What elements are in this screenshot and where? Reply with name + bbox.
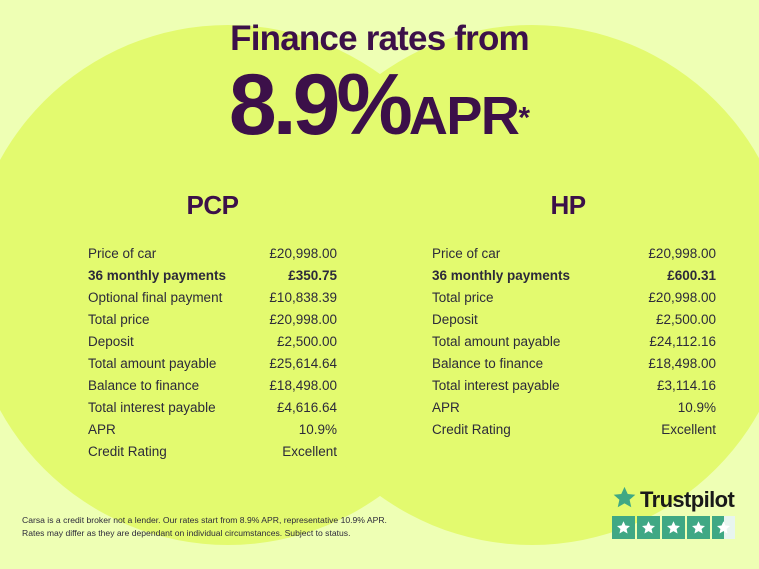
table-row: APR10.9% — [88, 419, 337, 441]
row-value: £20,998.00 — [648, 243, 716, 265]
hp-rows: Price of car£20,998.00 36 monthly paymen… — [432, 243, 716, 441]
row-label: Credit Rating — [88, 441, 167, 463]
legal-disclaimer: Carsa is a credit broker not a lender. O… — [22, 514, 442, 539]
table-row: Total amount payable£24,112.16 — [432, 331, 716, 353]
row-label: Total amount payable — [88, 353, 216, 375]
row-label: APR — [88, 419, 116, 441]
table-title-hp: HP — [426, 190, 710, 221]
table-row: Total interest payable£4,616.64 — [88, 397, 337, 419]
disclaimer-line-2: Rates may differ as they are dependant o… — [22, 527, 442, 540]
table-row: Total price£20,998.00 — [88, 309, 337, 331]
table-row: Deposit£2,500.00 — [88, 331, 337, 353]
row-value: £3,114.16 — [657, 375, 716, 397]
table-row: Total interest payable£3,114.16 — [432, 375, 716, 397]
table-row: 36 monthly payments£600.31 — [432, 265, 716, 287]
row-label: Price of car — [88, 243, 156, 265]
table-row: Balance to finance£18,498.00 — [88, 375, 337, 397]
finance-tables: PCP Price of car£20,998.00 36 monthly pa… — [0, 190, 759, 463]
row-label: Total amount payable — [432, 331, 560, 353]
row-value: 10.9% — [299, 419, 337, 441]
trustpilot-rating-stars — [612, 516, 737, 539]
row-label: Optional final payment — [88, 287, 222, 309]
row-value: £18,498.00 — [269, 375, 337, 397]
pcp-rows: Price of car£20,998.00 36 monthly paymen… — [88, 243, 337, 463]
row-label: 36 monthly payments — [432, 265, 570, 287]
page-title: Finance rates from — [0, 19, 759, 59]
star-icon-full — [662, 516, 685, 539]
trustpilot-logo[interactable]: Trustpilot — [612, 487, 737, 539]
table-row: Deposit£2,500.00 — [432, 309, 716, 331]
row-value: £20,998.00 — [648, 287, 716, 309]
star-icon-full — [612, 516, 635, 539]
row-value: £20,998.00 — [269, 243, 337, 265]
row-value: £20,998.00 — [269, 309, 337, 331]
row-value: £2,500.00 — [277, 331, 337, 353]
table-row: Price of car£20,998.00 — [432, 243, 716, 265]
star-icon-half — [712, 516, 735, 539]
star-icon-full — [637, 516, 660, 539]
row-value: Excellent — [661, 419, 716, 441]
row-value: £4,616.64 — [277, 397, 337, 419]
row-value: £24,112.16 — [649, 331, 716, 353]
row-label: Deposit — [432, 309, 478, 331]
row-label: Total interest payable — [88, 397, 216, 419]
row-label: Balance to finance — [432, 353, 543, 375]
row-value: 10.9% — [678, 397, 716, 419]
table-row: APR10.9% — [432, 397, 716, 419]
finance-table-hp: HP Price of car£20,998.00 36 monthly pay… — [379, 190, 758, 463]
row-value: £10,838.39 — [269, 287, 337, 309]
row-value: £600.31 — [667, 265, 716, 287]
row-label: Price of car — [432, 243, 500, 265]
table-row: 36 monthly payments£350.75 — [88, 265, 337, 287]
row-value: Excellent — [282, 441, 337, 463]
table-row: Total amount payable£25,614.64 — [88, 353, 337, 375]
row-value: £2,500.00 — [656, 309, 716, 331]
row-value: £18,498.00 — [648, 353, 716, 375]
star-icon-full — [687, 516, 710, 539]
row-value: £350.75 — [288, 265, 337, 287]
table-row: Price of car£20,998.00 — [88, 243, 337, 265]
table-row: Credit RatingExcellent — [432, 419, 716, 441]
row-label: 36 monthly payments — [88, 265, 226, 287]
row-label: Deposit — [88, 331, 134, 353]
row-value: £25,614.64 — [269, 353, 337, 375]
table-row: Balance to finance£18,498.00 — [432, 353, 716, 375]
trustpilot-star-icon — [612, 485, 637, 515]
apr-headline: 8.9%APR* — [0, 62, 759, 148]
table-row: Credit RatingExcellent — [88, 441, 337, 463]
table-row: Optional final payment£10,838.39 — [88, 287, 337, 309]
disclaimer-line-1: Carsa is a credit broker not a lender. O… — [22, 514, 442, 527]
row-label: APR — [432, 397, 460, 419]
apr-rate-unit: APR — [409, 86, 519, 146]
promo-banner: Finance rates from 8.9%APR* PCP Price of… — [0, 0, 759, 569]
row-label: Total interest payable — [432, 375, 560, 397]
trustpilot-wordmark: Trustpilot — [612, 487, 737, 513]
row-label: Total price — [88, 309, 150, 331]
finance-table-pcp: PCP Price of car£20,998.00 36 monthly pa… — [0, 190, 379, 463]
trustpilot-name: Trustpilot — [640, 489, 734, 511]
table-row: Total price£20,998.00 — [432, 287, 716, 309]
table-title-pcp: PCP — [88, 190, 337, 221]
apr-asterisk: * — [518, 102, 530, 135]
row-label: Credit Rating — [432, 419, 511, 441]
apr-rate-value: 8.9% — [229, 57, 409, 153]
row-label: Total price — [432, 287, 494, 309]
row-label: Balance to finance — [88, 375, 199, 397]
